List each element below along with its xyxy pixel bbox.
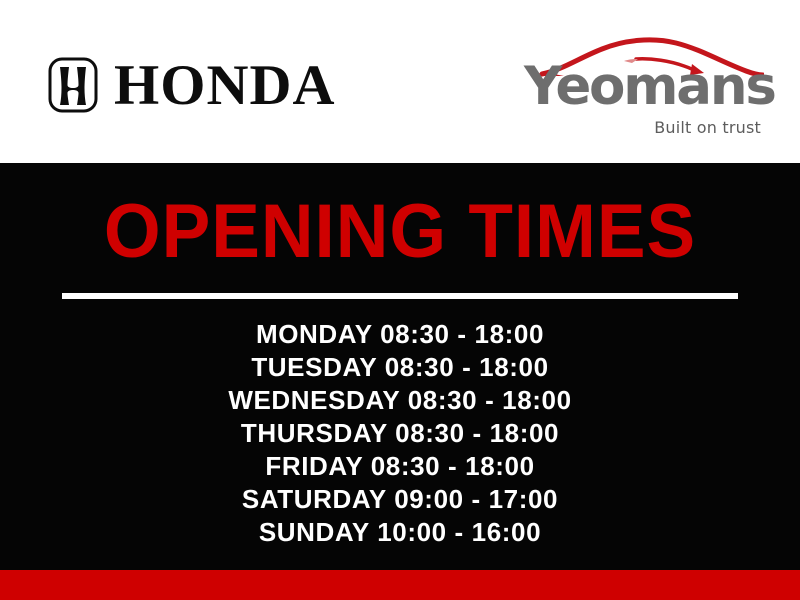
hours-range-separator: - <box>462 352 471 382</box>
hours-range-separator: - <box>472 484 481 514</box>
opening-hours-row: THURSDAY 08:30 - 18:00 <box>0 417 800 450</box>
main-panel: OPENING TIMES MONDAY 08:30 - 18:00TUESDA… <box>0 163 800 570</box>
opening-hours-row: FRIDAY 08:30 - 18:00 <box>0 450 800 483</box>
honda-logo: HONDA <box>48 57 331 113</box>
hours-open-time: 08:30 <box>408 385 478 415</box>
hours-day-label: WEDNESDAY <box>228 385 400 415</box>
yeomans-wordmark: Yeomans <box>524 60 764 113</box>
opening-hours-row: SUNDAY 10:00 - 16:00 <box>0 516 800 549</box>
opening-hours-list: MONDAY 08:30 - 18:00TUESDAY 08:30 - 18:0… <box>0 318 800 549</box>
page-title: OPENING TIMES <box>16 194 784 270</box>
yeomans-tagline: Built on trust <box>524 118 761 137</box>
hours-open-time: 08:30 <box>385 352 455 382</box>
hours-open-time: 10:00 <box>377 517 447 547</box>
hours-close-time: 18:00 <box>502 385 572 415</box>
hours-close-time: 17:00 <box>489 484 559 514</box>
opening-hours-row: MONDAY 08:30 - 18:00 <box>0 318 800 351</box>
title-divider <box>62 293 738 299</box>
opening-hours-row: WEDNESDAY 08:30 - 18:00 <box>0 384 800 417</box>
hours-open-time: 08:30 <box>380 319 450 349</box>
opening-hours-row: SATURDAY 09:00 - 17:00 <box>0 483 800 516</box>
hours-close-time: 18:00 <box>465 451 535 481</box>
header-band: HONDA Yeomans Built on trust <box>0 0 800 163</box>
hours-day-label: SATURDAY <box>242 484 386 514</box>
hours-close-time: 16:00 <box>472 517 542 547</box>
honda-h-emblem-icon <box>48 57 98 113</box>
hours-range-separator: - <box>448 451 457 481</box>
opening-hours-row: TUESDAY 08:30 - 18:00 <box>0 351 800 384</box>
hours-close-time: 18:00 <box>490 418 560 448</box>
hours-open-time: 09:00 <box>394 484 464 514</box>
hours-day-label: THURSDAY <box>241 418 387 448</box>
hours-day-label: FRIDAY <box>265 451 363 481</box>
hours-range-separator: - <box>457 319 466 349</box>
opening-times-poster: HONDA Yeomans Built on trust OPENING TIM… <box>0 0 800 600</box>
hours-range-separator: - <box>472 418 481 448</box>
hours-day-label: SUNDAY <box>259 517 370 547</box>
hours-close-time: 18:00 <box>479 352 549 382</box>
hours-range-separator: - <box>455 517 464 547</box>
hours-range-separator: - <box>485 385 494 415</box>
footer-accent-bar <box>0 570 800 600</box>
honda-wordmark: HONDA <box>114 57 336 114</box>
hours-close-time: 18:00 <box>475 319 545 349</box>
hours-day-label: TUESDAY <box>251 352 377 382</box>
hours-open-time: 08:30 <box>371 451 441 481</box>
hours-day-label: MONDAY <box>256 319 372 349</box>
yeomans-logo: Yeomans Built on trust <box>524 30 764 135</box>
hours-open-time: 08:30 <box>395 418 465 448</box>
